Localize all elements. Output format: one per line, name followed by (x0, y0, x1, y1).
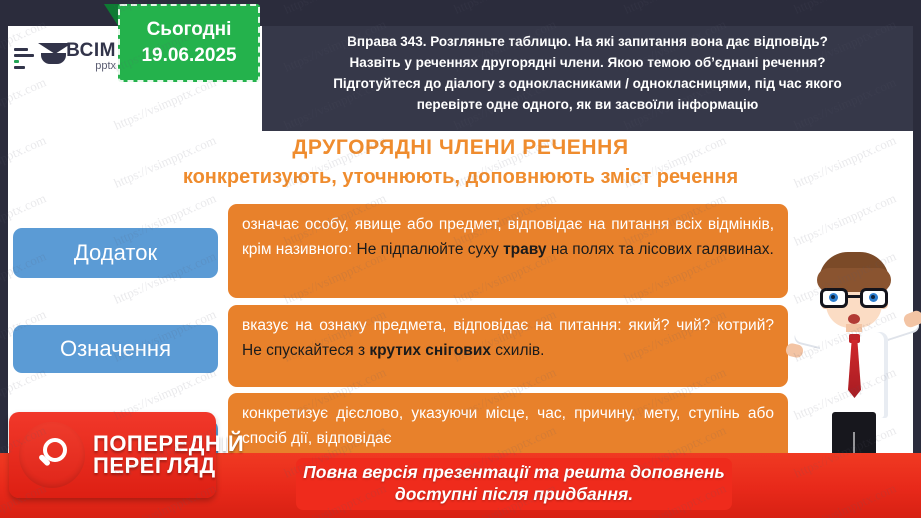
row-label-dodatok: Додаток (13, 228, 218, 278)
task-line-4: перевірте одне одного, як ви засвоїли ін… (270, 95, 905, 116)
example-pre: Не підпалюйте суху (357, 241, 504, 258)
example-post: на полях та лісових галявинах. (547, 241, 774, 258)
brand-name: ВСІМ (66, 41, 116, 60)
brand-logo-text: ВСІМ pptx (66, 41, 116, 72)
slide-canvas: ВСІМ pptx Сьогодні 19.06.2025 Вправа 343… (0, 0, 921, 518)
glasses-icon (819, 288, 889, 308)
magnifier-icon (19, 422, 85, 488)
task-line-1: Вправа 343. Розгляньте таблицю. На які з… (270, 32, 905, 53)
example-bold: крутих снігових (369, 342, 491, 359)
purchase-banner-text: Повна версія презентації та решта доповн… (296, 458, 732, 510)
row-definition-oznachennia: вказує на ознаку предмета, відповідає на… (228, 305, 788, 387)
logo-speed-lines-icon (14, 44, 34, 69)
preview-line-1: ПОПЕРЕДНІЙ (93, 433, 244, 455)
row-definition-dodatok: означає особу, явище або предмет, відпов… (228, 204, 788, 298)
example-post: схилів. (491, 342, 545, 359)
brand-sub: pptx (66, 61, 116, 72)
purchase-banner-line-2: доступні після придбання. (395, 484, 633, 506)
preview-badge[interactable]: ПОПЕРЕДНІЙ ПЕРЕГЛЯД (9, 412, 216, 498)
brand-logo: ВСІМ pptx (8, 26, 116, 86)
preview-badge-text: ПОПЕРЕДНІЙ ПЕРЕГЛЯД (93, 433, 244, 478)
definition-text: вказує на ознаку предмета, відповідає на… (242, 317, 774, 334)
definition-text: конкретизує дієслово, указуючи місце, ча… (242, 405, 774, 447)
preview-line-2: ПЕРЕГЛЯД (93, 455, 244, 477)
today-badge-date: 19.06.2025 (141, 45, 236, 67)
example-pre: Не спускайтеся з (242, 342, 369, 359)
example-bold: траву (503, 241, 546, 258)
graduation-cap-icon (38, 41, 63, 71)
task-instruction-bar: Вправа 343. Розгляньте таблицю. На які з… (262, 26, 913, 131)
purchase-banner-line-1: Повна версія презентації та решта доповн… (303, 462, 725, 484)
today-badge: Сьогодні 19.06.2025 (118, 4, 260, 82)
page-subtitle: конкретизують, уточнюють, доповнюють змі… (8, 166, 913, 189)
today-badge-label: Сьогодні (147, 19, 232, 41)
row-label-oznachennia: Означення (13, 325, 218, 373)
page-title: ДРУГОРЯДНІ ЧЛЕНИ РЕЧЕННЯ (8, 136, 913, 160)
task-line-3: Підготуйтеся до діалогу з однокласниками… (270, 74, 905, 95)
task-line-2: Назвіть у реченнях другорядні члени. Яко… (270, 53, 905, 74)
